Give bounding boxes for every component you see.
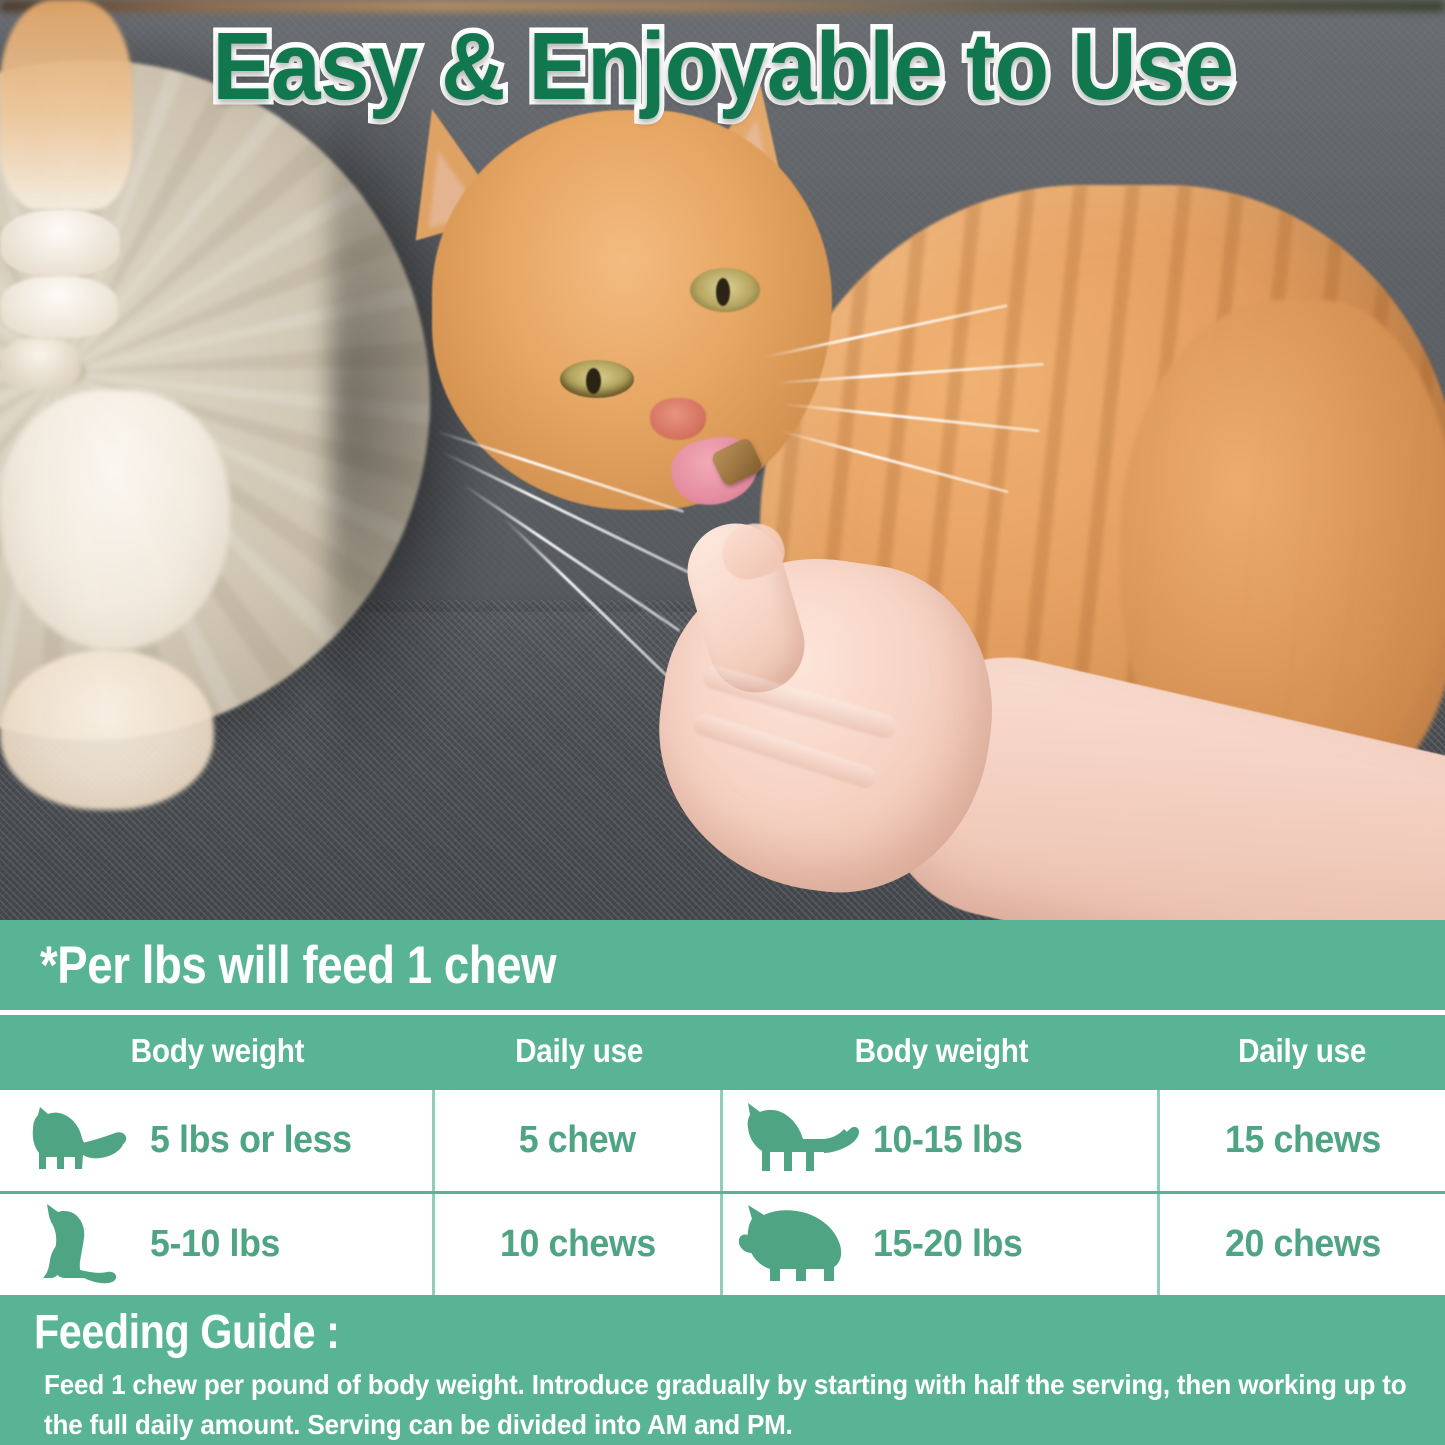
cat-sitting-icon [0, 1202, 150, 1288]
cat-left-pupil [586, 368, 601, 394]
cell-body-weight-left: 5 lbs or less [0, 1090, 435, 1191]
cell-body-weight-right: 15-20 lbs [723, 1194, 1160, 1295]
body-weight-value: 15-20 lbs [873, 1223, 1023, 1266]
cell-daily-use-left: 5 chew [435, 1090, 723, 1191]
cell-body-weight-left: 5-10 lbs [0, 1194, 435, 1295]
column-header-label: Body weight [855, 1032, 1029, 1070]
column-header-daily-use-right: Daily use [1160, 1015, 1445, 1087]
cat-front-leg [0, 0, 132, 210]
cat-back-paw [0, 338, 80, 390]
feeding-guide-title: Feeding Guide : [34, 1309, 1218, 1357]
cat-middle-paw [0, 276, 118, 338]
hero-photo: Easy & Enjoyable to Use [0, 0, 1445, 920]
column-header-daily-use-left: Daily use [435, 1015, 723, 1087]
feeding-table: Body weight Daily use Body weight Daily … [0, 1015, 1445, 1295]
daily-use-value: 15 chews [1225, 1119, 1381, 1162]
cat-white-chest [0, 390, 230, 650]
daily-use-value: 20 chews [1225, 1223, 1381, 1266]
cat-muzzle [0, 650, 214, 810]
body-weight-value: 5-10 lbs [150, 1223, 280, 1266]
feeding-guide-section: Feeding Guide : Feed 1 chew per pound of… [0, 1295, 1445, 1445]
cell-daily-use-right: 20 chews [1160, 1194, 1445, 1295]
table-header-row: Body weight Daily use Body weight Daily … [0, 1015, 1445, 1087]
body-weight-value: 5 lbs or less [150, 1119, 352, 1162]
cat-standing-icon [0, 1105, 150, 1177]
feeding-guide-body: Feed 1 chew per pound of body weight. In… [44, 1365, 1439, 1445]
column-header-body-weight-right: Body weight [723, 1015, 1160, 1087]
table-row: 5-10 lbs 10 chews 15-20 lbs 20 chews [0, 1191, 1445, 1295]
body-weight-value: 10-15 lbs [873, 1119, 1023, 1162]
per-lbs-banner: *Per lbs will feed 1 chew [0, 920, 1445, 1010]
column-header-label: Daily use [515, 1032, 643, 1070]
banner-text: *Per lbs will feed 1 chew [40, 935, 556, 996]
cat-right-pupil [716, 278, 730, 306]
table-row: 5 lbs or less 5 chew 10-15 lbs 15 chews [0, 1087, 1445, 1191]
column-header-label: Body weight [131, 1032, 305, 1070]
blurred-background-strip [0, 0, 1445, 12]
column-header-label: Daily use [1239, 1032, 1367, 1070]
cell-body-weight-right: 10-15 lbs [723, 1090, 1160, 1191]
cat-nose [650, 398, 706, 440]
cat-walking-icon [723, 1101, 873, 1181]
daily-use-value: 5 chew [519, 1119, 636, 1162]
cat-fluffy-icon [723, 1201, 873, 1289]
column-header-body-weight-left: Body weight [0, 1015, 435, 1087]
cat-front-paw [0, 210, 120, 276]
daily-use-value: 10 chews [500, 1223, 656, 1266]
product-infographic: Easy & Enjoyable to Use *Per lbs will fe… [0, 0, 1445, 1445]
cell-daily-use-left: 10 chews [435, 1194, 723, 1295]
cell-daily-use-right: 15 chews [1160, 1090, 1445, 1191]
